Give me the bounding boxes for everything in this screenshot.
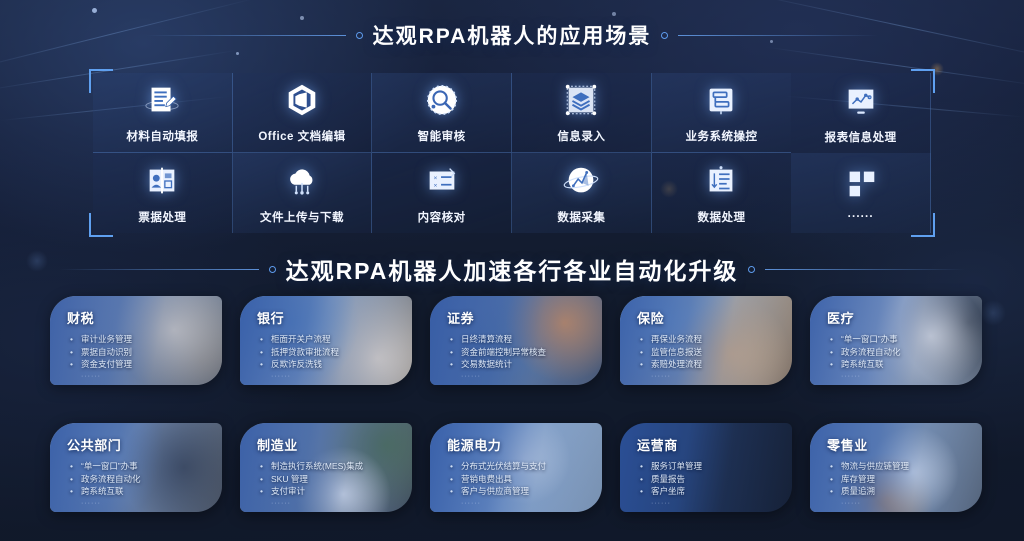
card-more: ······ xyxy=(637,500,784,507)
card-title: 保险 xyxy=(637,308,784,327)
scenario-cell-8[interactable]: × × 内容核对 xyxy=(372,153,512,233)
industry-card-2[interactable]: 证券 日终清算流程 资金前端控制异常核查 交易数据统计 ······ xyxy=(430,296,602,385)
card-list: “单一窗口”办事 政务流程自动化 跨系统互联 xyxy=(827,333,974,371)
layers-icon xyxy=(562,81,600,119)
card-list: 服务订单管理 质量报告 客户坐席 xyxy=(637,460,784,498)
list-item: 分布式光伏结算与支付 xyxy=(461,460,594,473)
scenario-label: 业务系统操控 xyxy=(685,128,757,144)
id-card-icon xyxy=(143,162,181,200)
card-list: “单一窗口”办事 政务流程自动化 跨系统互联 xyxy=(67,460,214,498)
scenario-label: ······ xyxy=(848,211,874,223)
list-item: 跨系统互联 xyxy=(841,358,974,371)
scenario-label: 数据处理 xyxy=(697,209,745,225)
grid-squares-icon xyxy=(842,164,880,202)
scenario-cell-2[interactable]: 智能审核 xyxy=(372,73,512,153)
scenario-cell-11[interactable]: ······ xyxy=(791,153,931,233)
hexagon-office-icon xyxy=(283,81,321,119)
industry-card-5[interactable]: 公共部门 “单一窗口”办事 政务流程自动化 跨系统互联 ······ xyxy=(50,423,222,512)
industry-card-7[interactable]: 能源电力 分布式光伏结算与支付 营销电费出具 客户与供应商管理 ······ xyxy=(430,423,602,512)
scenario-grid: 材料自动填报 Office 文档编辑 智能审核 xyxy=(93,73,931,233)
list-item: 监管信息报送 xyxy=(651,346,784,359)
card-title: 运营商 xyxy=(637,435,784,454)
svg-text:×: × xyxy=(433,182,437,189)
scenario-label: 信息录入 xyxy=(557,128,605,144)
list-item: 政务流程自动化 xyxy=(841,346,974,359)
card-title: 证券 xyxy=(447,308,594,327)
list-item: 跨系统互联 xyxy=(81,485,214,498)
list-item: 营销电费出具 xyxy=(461,473,594,486)
section-title-text: 达观RPA机器人加速各行各业自动化升级 xyxy=(286,252,739,286)
list-item: 再保业务流程 xyxy=(651,333,784,346)
list-item: “单一窗口”办事 xyxy=(81,460,214,473)
section-title-industries: 达观RPA机器人加速各行各业自动化升级 xyxy=(0,252,1024,286)
title-dot-left xyxy=(269,266,276,273)
list-item: 日终清算流程 xyxy=(461,333,594,346)
list-item: 反欺诈反洗钱 xyxy=(271,358,404,371)
server-rack-icon xyxy=(702,81,740,119)
section-title-text: 达观RPA机器人的应用场景 xyxy=(373,20,652,50)
card-list: 分布式光伏结算与支付 营销电费出具 客户与供应商管理 xyxy=(447,460,594,498)
scenario-label: 智能审核 xyxy=(418,128,466,144)
card-title: 医疗 xyxy=(827,308,974,327)
list-item: 柜面开关户流程 xyxy=(271,333,404,346)
card-list: 制造执行系统(MES)集成 SKU 管理 支付审计 xyxy=(257,460,404,498)
scenario-label: 文件上传与下载 xyxy=(260,209,344,225)
scenario-cell-10[interactable]: 数据处理 xyxy=(652,153,792,233)
list-item: 制造执行系统(MES)集成 xyxy=(271,460,404,473)
list-item: 物流与供应链管理 xyxy=(841,460,974,473)
industry-card-4[interactable]: 医疗 “单一窗口”办事 政务流程自动化 跨系统互联 ······ xyxy=(810,296,982,385)
page-background: 达观RPA机器人的应用场景 材料自动填报 Office xyxy=(0,0,1024,541)
scenario-label: 数据采集 xyxy=(557,209,605,225)
card-more: ······ xyxy=(637,373,784,380)
scenario-cell-1[interactable]: Office 文档编辑 xyxy=(233,73,373,153)
card-list: 日终清算流程 资金前端控制异常核查 交易数据统计 xyxy=(447,333,594,371)
scenario-label: 票据处理 xyxy=(138,209,186,225)
industry-card-3[interactable]: 保险 再保业务流程 监管信息报送 索赔处理流程 ······ xyxy=(620,296,792,385)
scenario-cell-9[interactable]: 数据采集 xyxy=(512,153,652,233)
scenario-cell-0[interactable]: 材料自动填报 xyxy=(93,73,233,153)
scenario-label: 内容核对 xyxy=(418,209,466,225)
list-item: 支付审计 xyxy=(271,485,404,498)
list-item: 政务流程自动化 xyxy=(81,473,214,486)
title-rule-right xyxy=(765,269,965,270)
industry-card-0[interactable]: 财税 审计业务管理 票据自动识别 资金支付管理 ······ xyxy=(50,296,222,385)
list-item: 票据自动识别 xyxy=(81,346,214,359)
card-title: 零售业 xyxy=(827,435,974,454)
list-item: 资金支付管理 xyxy=(81,358,214,371)
industry-card-9[interactable]: 零售业 物流与供应链管理 库存管理 质量追溯 ······ xyxy=(810,423,982,512)
scenario-cell-5[interactable]: 报表信息处理 xyxy=(791,73,931,153)
document-pen-icon xyxy=(143,81,181,119)
chart-monitor-icon xyxy=(842,82,880,120)
card-more: ······ xyxy=(67,373,214,380)
card-title: 财税 xyxy=(67,308,214,327)
industry-card-1[interactable]: 银行 柜面开关户流程 抵押贷款审批流程 反欺诈反洗钱 ······ xyxy=(240,296,412,385)
list-item: “单一窗口”办事 xyxy=(841,333,974,346)
list-item: 客户与供应商管理 xyxy=(461,485,594,498)
list-item: 审计业务管理 xyxy=(81,333,214,346)
list-item: 索赔处理流程 xyxy=(651,358,784,371)
card-list: 审计业务管理 票据自动识别 资金支付管理 xyxy=(67,333,214,371)
card-more: ······ xyxy=(67,500,214,507)
title-rule-left xyxy=(146,35,346,36)
card-title: 能源电力 xyxy=(447,435,594,454)
list-item: 客户坐席 xyxy=(651,485,784,498)
card-more: ······ xyxy=(257,500,404,507)
cloud-transfer-icon xyxy=(283,162,321,200)
list-item: 质量报告 xyxy=(651,473,784,486)
scenario-label: 报表信息处理 xyxy=(825,129,897,145)
list-item: 抵押贷款审批流程 xyxy=(271,346,404,359)
document-sort-icon xyxy=(702,162,740,200)
checklist-compare-icon: × × xyxy=(423,162,461,200)
card-more: ······ xyxy=(257,373,404,380)
scenario-cell-3[interactable]: 信息录入 xyxy=(512,73,652,153)
card-list: 柜面开关户流程 抵押贷款审批流程 反欺诈反洗钱 xyxy=(257,333,404,371)
scenario-label: 材料自动填报 xyxy=(126,128,198,144)
list-item: 资金前端控制异常核查 xyxy=(461,346,594,359)
globe-chart-icon xyxy=(562,162,600,200)
industry-card-6[interactable]: 制造业 制造执行系统(MES)集成 SKU 管理 支付审计 ······ xyxy=(240,423,412,512)
card-title: 制造业 xyxy=(257,435,404,454)
card-title: 公共部门 xyxy=(67,435,214,454)
svg-text:×: × xyxy=(433,175,437,182)
scenario-label: Office 文档编辑 xyxy=(258,128,345,144)
scenario-cell-7[interactable]: 文件上传与下载 xyxy=(233,153,373,233)
scenario-cell-6[interactable]: 票据处理 xyxy=(93,153,233,233)
industry-card-8[interactable]: 运营商 服务订单管理 质量报告 客户坐席 ······ xyxy=(620,423,792,512)
title-rule-right xyxy=(678,35,878,36)
list-item: 服务订单管理 xyxy=(651,460,784,473)
card-more: ······ xyxy=(447,373,594,380)
title-dot-right xyxy=(748,266,755,273)
list-item: SKU 管理 xyxy=(271,473,404,486)
title-rule-left xyxy=(59,269,259,270)
magnifier-circle-icon xyxy=(423,81,461,119)
list-item: 库存管理 xyxy=(841,473,974,486)
scenario-cell-4[interactable]: 业务系统操控 xyxy=(652,73,792,153)
card-more: ······ xyxy=(447,500,594,507)
card-list: 再保业务流程 监管信息报送 索赔处理流程 xyxy=(637,333,784,371)
list-item: 交易数据统计 xyxy=(461,358,594,371)
title-dot-right xyxy=(661,32,668,39)
card-more: ······ xyxy=(827,500,974,507)
card-more: ······ xyxy=(827,373,974,380)
card-title: 银行 xyxy=(257,308,404,327)
list-item: 质量追溯 xyxy=(841,485,974,498)
card-list: 物流与供应链管理 库存管理 质量追溯 xyxy=(827,460,974,498)
title-dot-left xyxy=(356,32,363,39)
section-title-scenarios: 达观RPA机器人的应用场景 xyxy=(0,20,1024,50)
